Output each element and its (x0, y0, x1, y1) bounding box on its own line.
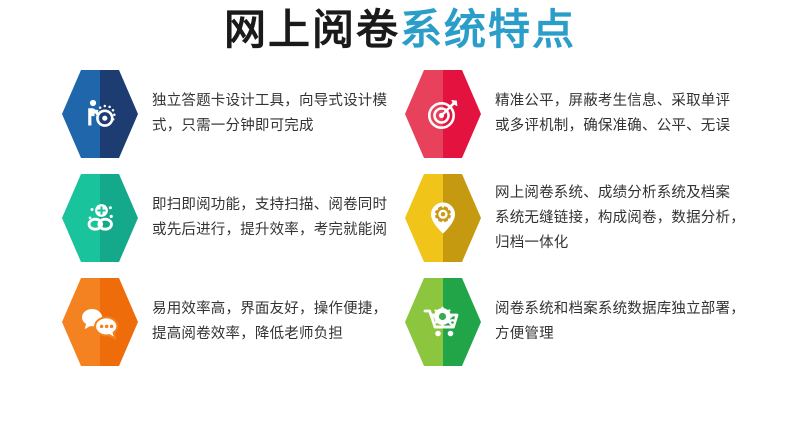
feature-description-line: 易用效率高，界面友好，操作便捷， (152, 297, 387, 322)
feature-description-line: 独立答题卡设计工具，向导式设计模 (152, 89, 387, 114)
feature-description-line: 方便管理 (495, 322, 745, 347)
feature-item-fair-grading[interactable]: 精准公平，屏蔽考生信息、采取单评 或多评机制，确保准确、公平、无误 (405, 66, 785, 162)
feature-description-line: 提高阅卷效率，降低老师负担 (152, 322, 387, 347)
feature-item-seamless-integration[interactable]: 网上阅卷系统、成绩分析系统及档案 系统无缝链接，构成阅卷，数据分析， 归档一体化 (405, 170, 785, 266)
feature-description: 网上阅卷系统、成绩分析系统及档案 系统无缝链接，构成阅卷，数据分析， 归档一体化 (495, 181, 745, 256)
page-title-main: 网上阅卷 (224, 6, 400, 53)
feature-hexagon (405, 174, 481, 262)
feature-item-easy-to-use[interactable]: 易用效率高，界面友好，操作便捷， 提高阅卷效率，降低老师负担 (62, 274, 392, 370)
target-arrow-icon (405, 70, 481, 158)
feature-hexagon (62, 174, 138, 262)
feature-description-line: 归档一体化 (495, 231, 745, 256)
feature-description: 阅卷系统和档案系统数据库独立部署， 方便管理 (495, 297, 745, 347)
feature-description-line: 网上阅卷系统、成绩分析系统及档案 (495, 181, 745, 206)
feature-description: 独立答题卡设计工具，向导式设计模 式，只需一分钟即可完成 (152, 89, 387, 139)
chat-bubbles-icon (62, 278, 138, 366)
feature-description: 即扫即阅功能，支持扫描、阅卷同时 或先后进行，提升效率，考完就能阅 (152, 193, 387, 243)
feature-hexagon (405, 70, 481, 158)
feature-hexagon (405, 278, 481, 366)
feature-item-scan-and-read[interactable]: 即扫即阅功能，支持扫描、阅卷同时 或先后进行，提升效率，考完就能阅 (62, 170, 392, 266)
link-plus-icon (62, 174, 138, 262)
feature-item-answer-sheet-designer[interactable]: 独立答题卡设计工具，向导式设计模 式，只需一分钟即可完成 (62, 66, 392, 162)
feature-description-line: 或先后进行，提升效率，考完就能阅 (152, 218, 387, 243)
feature-grid: 独立答题卡设计工具，向导式设计模 式，只需一分钟即可完成 (0, 62, 800, 436)
feature-description: 精准公平，屏蔽考生信息、采取单评 或多评机制，确保准确、公平、无误 (495, 89, 730, 139)
feature-description-line: 系统无缝链接，构成阅卷，数据分析， (495, 206, 745, 231)
page-title-accent: 系统特点 (400, 6, 576, 53)
feature-description: 易用效率高，界面友好，操作便捷， 提高阅卷效率，降低老师负担 (152, 297, 387, 347)
location-gear-icon (405, 174, 481, 262)
feature-slide: 网上阅卷系统特点 (0, 0, 800, 436)
feature-description-line: 即扫即阅功能，支持扫描、阅卷同时 (152, 193, 387, 218)
feature-item-independent-database[interactable]: 阅卷系统和档案系统数据库独立部署， 方便管理 (405, 274, 785, 370)
feature-hexagon (62, 278, 138, 366)
feature-description-line: 精准公平，屏蔽考生信息、采取单评 (495, 89, 730, 114)
feature-hexagon (62, 70, 138, 158)
feature-description-line: 或多评机制，确保准确、公平、无误 (495, 114, 730, 139)
feature-description-line: 阅卷系统和档案系统数据库独立部署， (495, 297, 745, 322)
feature-description-line: 式，只需一分钟即可完成 (152, 114, 387, 139)
page-title: 网上阅卷系统特点 (0, 2, 800, 58)
cart-gear-icon (405, 278, 481, 366)
person-gear-icon (62, 70, 138, 158)
